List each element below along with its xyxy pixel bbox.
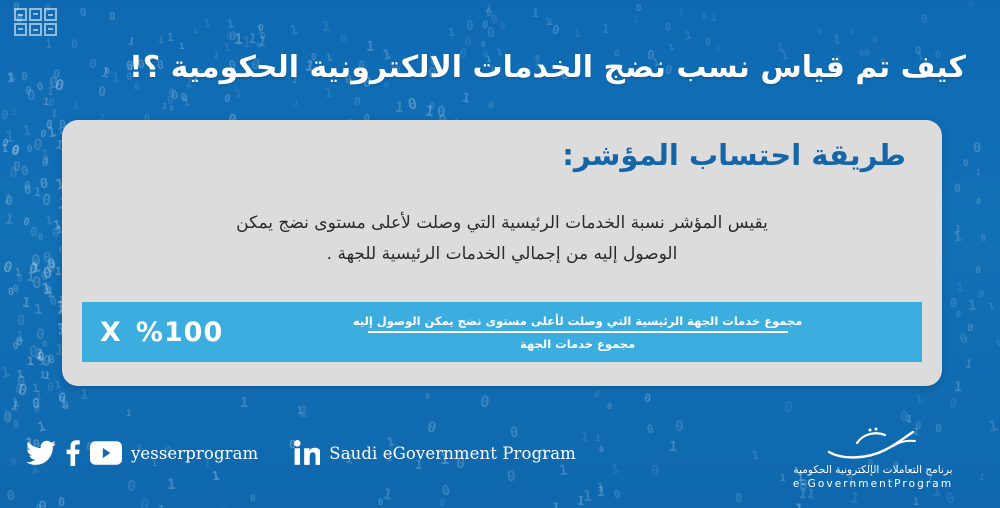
youtube-icon[interactable] — [90, 441, 122, 465]
binary-digit: 0 — [57, 392, 67, 406]
binary-digit: 1 — [26, 271, 35, 284]
binary-digit: 1 — [226, 18, 234, 30]
binary-digit: 0 — [42, 266, 52, 282]
binary-digit: 0 — [225, 33, 231, 42]
binary-digit: 0 — [953, 183, 960, 195]
was-spa-logo — [14, 8, 57, 36]
indicator-method-card: طريقة احتساب المؤشر: يقيس المؤشر نسبة ال… — [62, 120, 942, 386]
binary-digit: 1 — [16, 368, 25, 380]
binary-digit: 0 — [487, 101, 494, 111]
binary-digit: 0 — [490, 13, 499, 25]
binary-digit: 0 — [0, 138, 8, 149]
binary-digit: 0 — [11, 143, 21, 157]
binary-digit: 1 — [37, 354, 46, 367]
binary-digit: 1 — [545, 16, 553, 27]
binary-digit: 0 — [499, 23, 505, 32]
binary-digit: 1 — [32, 383, 39, 395]
binary-digit: 1 — [34, 304, 43, 318]
binary-digit: 1 — [324, 88, 333, 102]
binary-digit: 0 — [38, 234, 44, 244]
linkedin-handle[interactable]: Saudi eGovernment Program — [329, 444, 576, 463]
binary-digit: 1 — [322, 21, 331, 35]
binary-digit: 0 — [704, 38, 712, 49]
binary-digit: 0 — [22, 217, 31, 228]
binary-digit: 0 — [974, 266, 981, 276]
binary-digit: 0 — [39, 130, 47, 141]
binary-digit: 1 — [41, 282, 53, 299]
binary-digit: 0 — [480, 19, 488, 30]
binary-digit: 0 — [47, 96, 56, 108]
formula-fraction: مجموع خدمات الجهة الرئيسية التي وصلت لأع… — [241, 314, 914, 351]
binary-digit: 0 — [17, 315, 26, 329]
binary-digit: 1 — [2, 144, 9, 155]
binary-digit: 0 — [170, 89, 180, 102]
binary-digit: 0 — [255, 40, 261, 49]
yesser-program-logo: برنامج التعاملات الإلكترونية الحكومية e-… — [768, 426, 978, 490]
binary-digit: 0 — [51, 227, 59, 240]
binary-digit: 0 — [14, 383, 24, 397]
binary-digit: 0 — [643, 392, 651, 404]
binary-digit: 1 — [157, 36, 163, 46]
binary-digit: 0 — [168, 87, 175, 99]
binary-digit: 1 — [45, 38, 53, 50]
binary-digit: 0 — [28, 263, 39, 278]
binary-digit: 0 — [977, 289, 985, 300]
binary-digit: 1 — [72, 101, 79, 111]
binary-digit: 1 — [3, 192, 13, 206]
binary-digit: 1 — [44, 371, 52, 382]
binary-digit: 1 — [54, 267, 61, 278]
binary-digit: 1 — [44, 156, 50, 166]
binary-digit: 0 — [78, 6, 87, 19]
binary-digit: 0 — [5, 195, 14, 209]
binary-digit: 1 — [448, 27, 456, 39]
formula-numerator: مجموع خدمات الجهة الرئيسية التي وصلت لأع… — [353, 314, 803, 331]
binary-digit: 0 — [665, 23, 673, 35]
binary-digit: 1 — [995, 338, 1000, 347]
binary-digit: 0 — [593, 389, 601, 399]
binary-digit: 1 — [46, 287, 55, 301]
binary-digit: 1 — [22, 123, 32, 138]
binary-digit: 1 — [602, 23, 610, 35]
binary-digit: 1 — [967, 298, 977, 313]
binary-digit: 1 — [11, 397, 20, 411]
formula-multiplier-group: X %100 — [90, 317, 241, 348]
binary-digit: 0 — [31, 253, 41, 269]
binary-digit: 1 — [11, 107, 17, 117]
binary-digit: 1 — [461, 92, 471, 106]
binary-digit: 0 — [16, 375, 27, 391]
binary-digit: 1 — [247, 32, 258, 47]
page-title: كيف تم قياس نسب نضج الخدمات الالكترونية … — [34, 50, 966, 85]
binary-digit: 1 — [975, 167, 981, 176]
binary-digit: 0 — [551, 24, 561, 38]
binary-digit: 0 — [39, 176, 50, 191]
binary-digit: 0 — [13, 341, 20, 351]
binary-digit: 1 — [127, 37, 136, 49]
binary-digit: 1 — [288, 24, 298, 38]
logo-block — [29, 8, 42, 21]
binary-digit: 1 — [424, 105, 435, 121]
binary-digit: 1 — [531, 8, 538, 20]
binary-digit: 0 — [950, 297, 958, 310]
binary-digit: 0 — [26, 88, 36, 103]
binary-digit: 0 — [0, 108, 10, 122]
card-description-line-1: يقيس المؤشر نسبة الخدمات الرئيسية التي و… — [122, 208, 882, 239]
binary-digit: 1 — [0, 364, 11, 381]
binary-digit: 1 — [257, 35, 268, 50]
logo-block — [44, 8, 57, 21]
was-spa-logo-row-top — [14, 8, 57, 21]
binary-digit: 0 — [8, 166, 18, 181]
binary-digit: 1 — [80, 389, 89, 403]
binary-digit: 1 — [54, 380, 62, 391]
binary-digit: 0 — [23, 183, 32, 196]
binary-digit: 1 — [953, 231, 962, 245]
binary-digit: 0 — [464, 37, 473, 51]
binary-digit: 0 — [24, 180, 31, 191]
logo-block — [29, 23, 42, 36]
binary-digit: 0 — [32, 137, 43, 153]
binary-digit: 0 — [44, 284, 52, 296]
binary-digit: 0 — [959, 332, 970, 347]
yesser-wordmark-icon — [768, 426, 978, 460]
binary-digit: 1 — [988, 303, 995, 313]
binary-digit: 0 — [62, 400, 70, 412]
binary-digit: 0 — [340, 32, 348, 44]
binary-digit: 0 — [9, 144, 20, 159]
binary-digit: 0 — [41, 353, 53, 369]
was-spa-logo-row-bottom — [14, 23, 57, 36]
binary-digit: 1 — [917, 396, 924, 406]
binary-digit: 0 — [962, 158, 969, 168]
binary-digit: 1 — [255, 23, 265, 37]
youtube-handle[interactable]: yesserprogram — [131, 444, 258, 463]
linkedin-icon[interactable] — [294, 440, 320, 466]
binary-digit: 0 — [973, 142, 981, 156]
binary-digit: 0 — [40, 270, 49, 283]
footer: yesserprogram Saudi eGovernment Program — [0, 412, 1000, 508]
binary-digit: 1 — [27, 356, 34, 367]
binary-digit: 0 — [169, 104, 174, 112]
binary-digit: 1 — [6, 71, 15, 84]
binary-digit: 0 — [257, 23, 263, 33]
binary-digit: 1 — [833, 34, 842, 47]
binary-digit: 0 — [41, 193, 52, 209]
binary-digit: 0 — [16, 275, 23, 285]
binary-digit: 0 — [42, 158, 48, 169]
binary-digit: 0 — [921, 14, 929, 26]
binary-digit: 0 — [480, 41, 486, 50]
logo-block — [14, 8, 27, 21]
binary-digit: 0 — [32, 275, 42, 291]
binary-digit: 1 — [632, 16, 639, 26]
binary-digit: 1 — [830, 32, 839, 45]
formula-percent-value: %100 — [136, 317, 223, 348]
binary-digit: 0 — [425, 392, 430, 400]
binary-digit: 1 — [47, 127, 58, 142]
binary-digit: 1 — [33, 347, 44, 363]
binary-digit: 0 — [37, 352, 45, 365]
binary-digit: 0 — [2, 261, 14, 277]
binary-digit: 1 — [573, 28, 581, 40]
binary-digit: 0 — [42, 341, 48, 350]
binary-digit: 0 — [259, 32, 267, 42]
binary-digit: 1 — [161, 103, 168, 112]
binary-digit: 0 — [486, 26, 495, 40]
binary-digit: 1 — [16, 330, 25, 344]
binary-digit: 1 — [548, 19, 553, 28]
binary-digit: 0 — [46, 118, 54, 130]
binary-digit: 0 — [47, 382, 54, 394]
binary-digit: 1 — [954, 224, 961, 234]
binary-digit: 0 — [46, 257, 56, 271]
binary-digit: 0 — [27, 343, 39, 360]
binary-digit: 0 — [968, 0, 973, 8]
binary-digit: 0 — [8, 288, 15, 298]
binary-digit: 1 — [8, 71, 17, 83]
binary-digit: 0 — [98, 86, 107, 100]
binary-digit: 0 — [36, 328, 46, 343]
binary-digit: 0 — [966, 324, 973, 335]
binary-digit: 0 — [486, 8, 493, 19]
binary-digit: 1 — [239, 397, 249, 411]
binary-digit: 0 — [43, 251, 52, 265]
binary-digit: 1 — [33, 390, 42, 404]
binary-digit: 1 — [677, 8, 685, 19]
card-title: طريقة احتساب المؤشر: — [562, 138, 906, 172]
binary-digit: 1 — [710, 12, 718, 24]
binary-digit: 0 — [167, 95, 174, 107]
binary-digit: 1 — [954, 381, 963, 395]
binary-digit: 0 — [30, 225, 38, 238]
binary-digit: 1 — [51, 108, 58, 119]
binary-digit: 1 — [41, 149, 50, 163]
binary-digit: 1 — [234, 32, 243, 47]
binary-digit: 0 — [353, 95, 362, 107]
binary-digit: 0 — [702, 12, 709, 21]
binary-digit: 1 — [14, 268, 22, 279]
social-group-linkedin: Saudi eGovernment Program — [294, 440, 578, 466]
binary-digit: 0 — [16, 382, 28, 399]
binary-digit: 0 — [21, 71, 28, 83]
binary-digit: 0 — [406, 96, 418, 113]
binary-digit: 1 — [685, 30, 693, 42]
binary-digit: 1 — [234, 87, 243, 99]
formula-denominator: مجموع خدمات الجهة — [520, 333, 635, 351]
binary-digit: 0 — [109, 12, 116, 23]
binary-digit: 0 — [466, 19, 475, 33]
binary-digit: 1 — [484, 5, 492, 16]
yesser-logo-english: e-GovernmentProgram — [768, 478, 978, 490]
binary-digit: 0 — [47, 354, 56, 367]
binary-digit: 1 — [52, 219, 62, 232]
binary-digit: 0 — [229, 30, 237, 42]
binary-digit: 0 — [437, 105, 446, 119]
binary-digit: 1 — [40, 372, 46, 381]
binary-digit: 0 — [46, 260, 56, 276]
binary-digit: 0 — [24, 86, 32, 98]
binary-digit: 1 — [964, 358, 973, 371]
binary-digit: 0 — [949, 399, 958, 412]
binary-digit: 1 — [956, 281, 964, 294]
binary-digit: 1 — [849, 25, 856, 34]
binary-digit: 0 — [975, 197, 981, 206]
binary-digit: 0 — [20, 164, 30, 178]
card-description-line-2: الوصول إليه من إجمالي الخدمات الرئيسية ل… — [122, 239, 882, 270]
twitter-icon[interactable] — [26, 440, 56, 466]
binary-digit: 0 — [871, 36, 878, 46]
formula-strip: مجموع خدمات الجهة الرئيسية التي وصلت لأع… — [82, 302, 922, 362]
facebook-icon[interactable] — [65, 440, 81, 466]
binary-digit: 1 — [45, 215, 53, 227]
binary-digit: 0 — [224, 94, 232, 106]
binary-digit: 1 — [395, 100, 405, 115]
binary-digit: 1 — [193, 26, 198, 34]
yesser-logo-arabic: برنامج التعاملات الإلكترونية الحكومية — [768, 464, 978, 476]
binary-digit: 1 — [5, 130, 15, 146]
binary-digit: 0 — [428, 103, 435, 113]
binary-digit: 0 — [49, 295, 59, 308]
binary-digit: 1 — [30, 260, 41, 276]
binary-digit: 0 — [15, 335, 23, 347]
binary-digit: 0 — [71, 37, 79, 49]
binary-digit: 1 — [292, 100, 299, 110]
binary-digit: 1 — [47, 87, 55, 98]
binary-digit: 0 — [980, 234, 988, 245]
binary-digit: 1 — [3, 213, 14, 228]
binary-digit: 1 — [33, 186, 41, 198]
binary-digit: 0 — [636, 4, 642, 14]
binary-digit: 1 — [10, 399, 20, 413]
card-description: يقيس المؤشر نسبة الخدمات الرئيسية التي و… — [122, 208, 882, 271]
binary-digit: 0 — [27, 145, 34, 155]
binary-digit: 1 — [182, 97, 191, 109]
formula-multiply-symbol: X — [100, 317, 122, 348]
logo-block — [14, 23, 27, 36]
binary-digit: 1 — [21, 296, 31, 310]
logo-block — [44, 23, 57, 36]
social-links: yesserprogram Saudi eGovernment Program — [26, 440, 578, 466]
social-group-yesser: yesserprogram — [26, 440, 260, 466]
infographic-poster: 1111001001110001111000101100000000101110… — [0, 0, 1000, 508]
binary-digit: 1 — [167, 32, 174, 43]
binary-digit: 0 — [13, 285, 20, 295]
binary-digit: 1 — [42, 98, 49, 109]
binary-digit: 1 — [241, 35, 251, 50]
binary-digit: 0 — [956, 311, 962, 320]
binary-digit: 0 — [816, 26, 824, 37]
binary-digit: 0 — [32, 397, 41, 411]
binary-digit: 1 — [59, 396, 70, 412]
binary-digit: 0 — [180, 91, 189, 104]
binary-digit: 0 — [606, 402, 612, 411]
binary-digit: 0 — [13, 162, 21, 175]
binary-digit: 0 — [479, 393, 491, 410]
binary-digit: 1 — [204, 18, 213, 30]
